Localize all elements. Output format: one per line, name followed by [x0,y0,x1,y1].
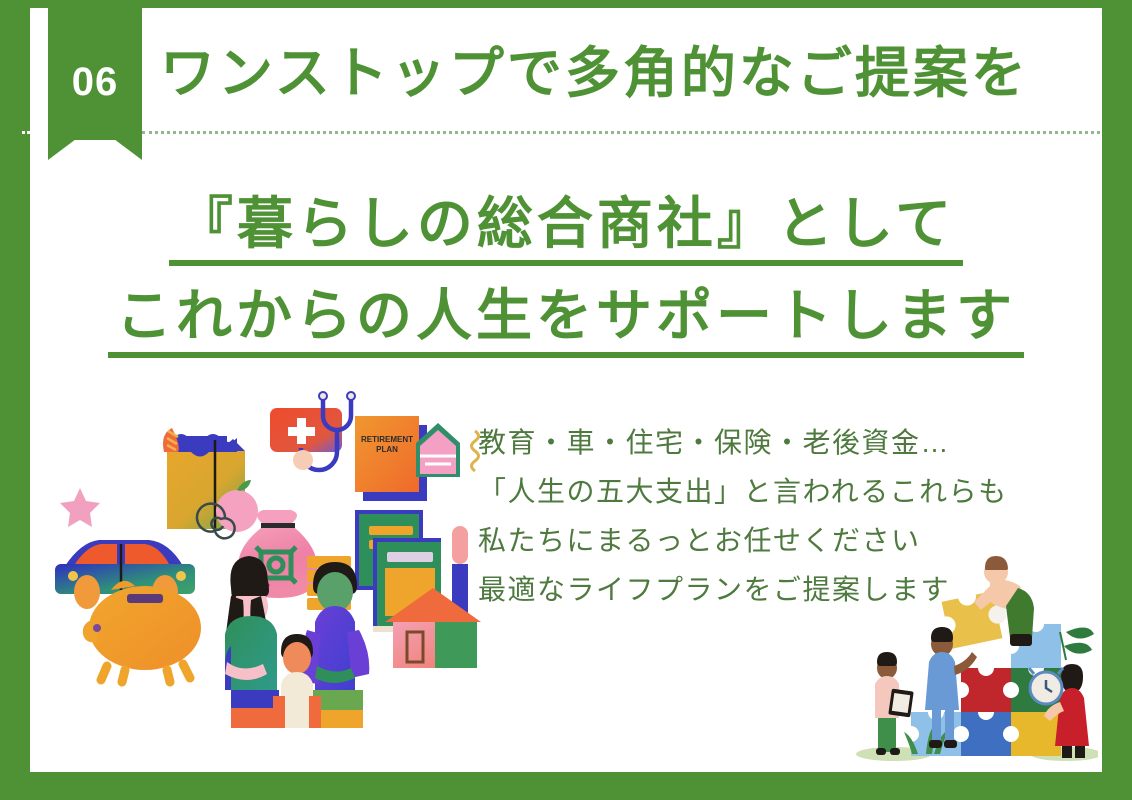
teamwork-puzzle-illustration [854,540,1098,770]
alarm-clock-icon [1029,668,1063,704]
header-left-notch [30,8,48,140]
headline: 『暮らしの総合商社』として これからの人生をサポートします [0,196,1132,358]
piggy-bank-icon [83,581,201,682]
retirement-plan-label: RETIREMENT [361,435,413,444]
svg-text:PLAN: PLAN [376,445,398,454]
life-expenses-illustration: RETIREMENT PLAN [55,378,525,798]
headline-line-1: 『暮らしの総合商社』として [169,196,963,266]
body-line-2: 「人生の五大支出」と言われるこれらも [478,467,1008,516]
header-dotted-rule-left [22,131,48,134]
body-line-1: 教育・車・住宅・保険・老後資金… [478,418,1008,467]
headline-line-2: これからの人生をサポートします [108,288,1024,358]
slide-root: 06 ワンストップで多角的なご提案を 『暮らしの総合商社』として これからの人生… [0,0,1132,800]
header-dotted-rule-right [142,131,1100,134]
leaf-icon [1060,627,1094,660]
grocery-bag-icon [163,428,258,532]
star-icon [60,488,100,527]
header-title: ワンストップで多角的なご提案を [160,46,1029,101]
squiggle-icon [472,431,479,471]
